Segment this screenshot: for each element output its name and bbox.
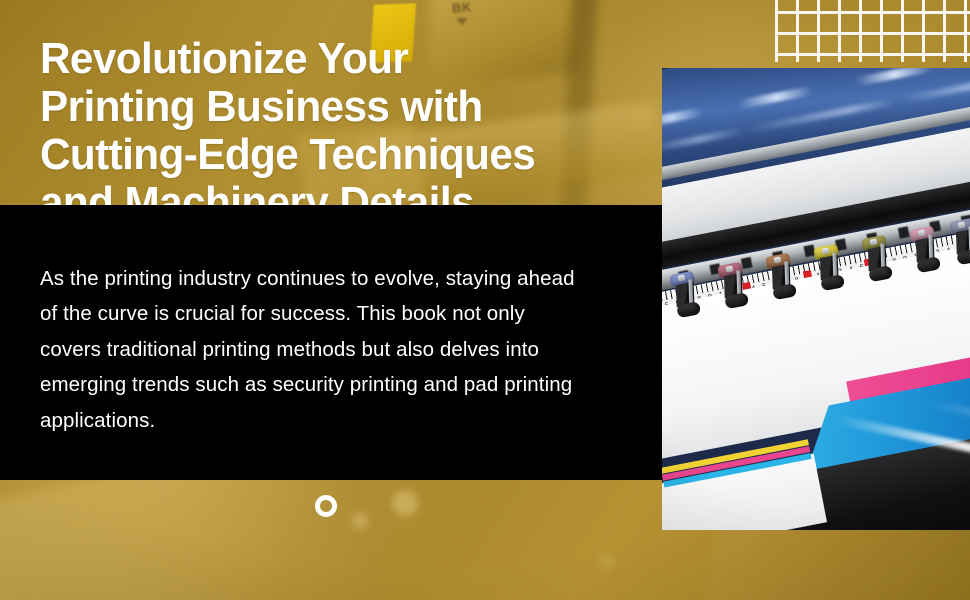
promo-banner: BK Revolutionize Your Printing Business … <box>0 0 970 600</box>
page-title: Revolutionize Your Printing Business wit… <box>40 35 635 227</box>
description-panel: As the printing industry continues to ev… <box>0 205 662 480</box>
headline-line-1: Revolutionize Your <box>40 35 635 83</box>
carousel-dot-icon[interactable] <box>315 495 337 517</box>
printer-photo: 1 2 3 4 5 6 7 8 9 1 2 3 4 5 6 7 8 9 1 2 … <box>662 68 970 530</box>
headline-line-2: Printing Business with <box>40 83 635 131</box>
headline-line-3: Cutting-Edge Techniques <box>40 131 635 179</box>
grid-decoration <box>775 0 970 62</box>
description-text: As the printing industry continues to ev… <box>40 261 580 439</box>
